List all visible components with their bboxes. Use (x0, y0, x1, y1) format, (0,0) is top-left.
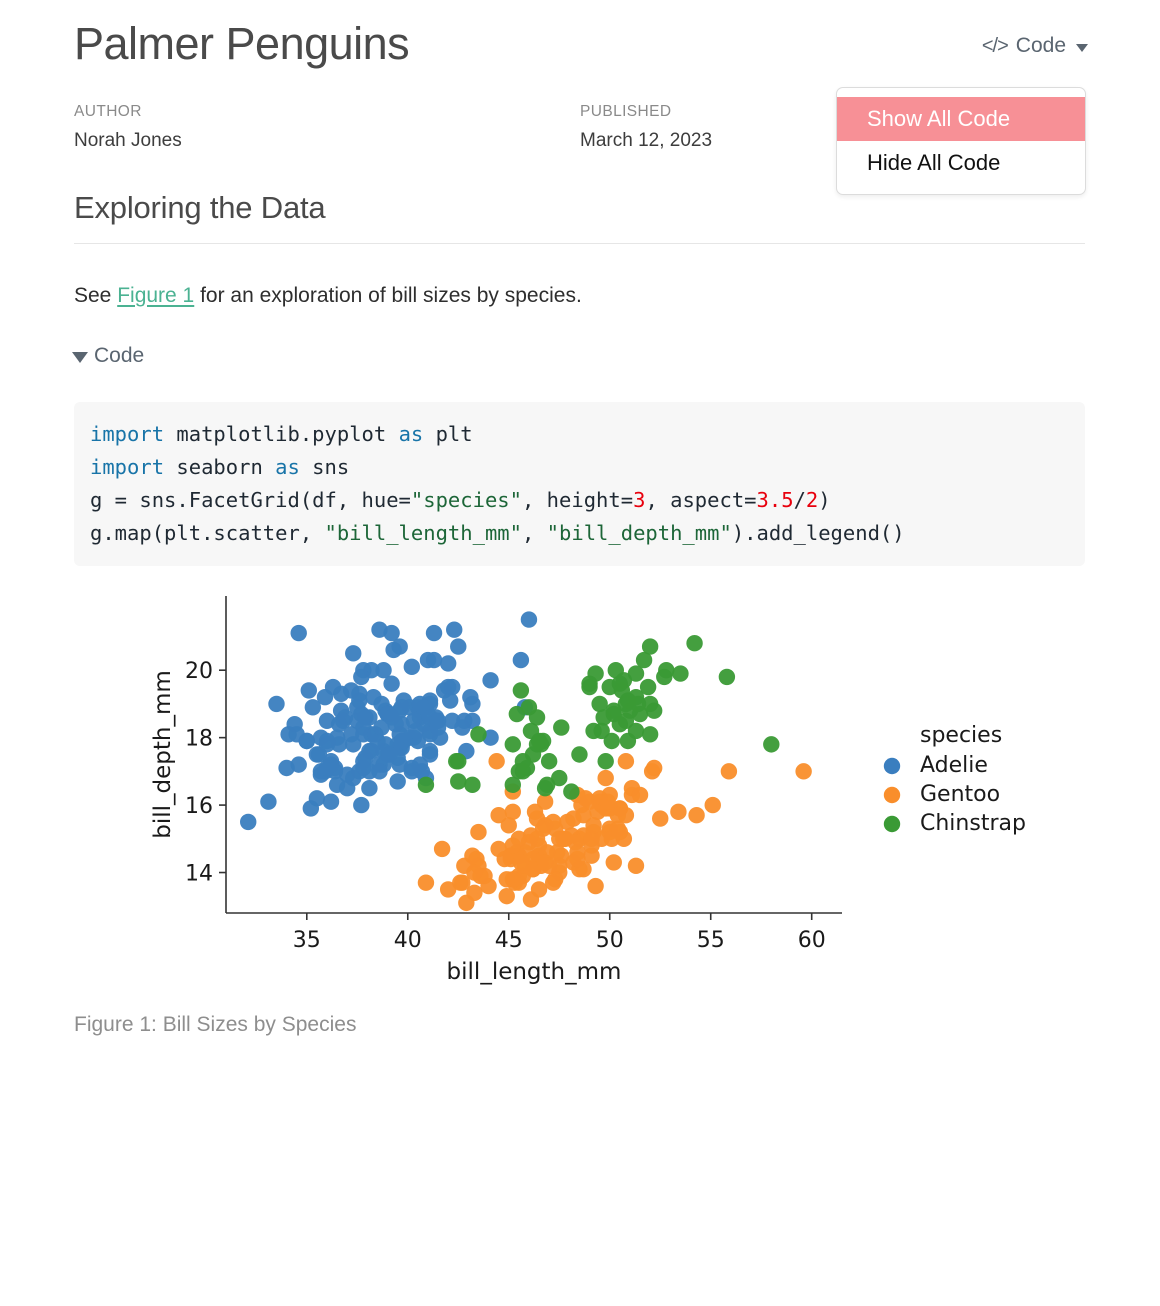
data-point (795, 763, 811, 779)
data-point (404, 659, 420, 675)
data-point (531, 881, 547, 897)
x-tick-label: 35 (293, 928, 321, 953)
data-point (593, 723, 609, 739)
data-point (389, 773, 405, 789)
data-point (418, 874, 434, 890)
data-point (513, 854, 529, 870)
data-point (670, 804, 686, 820)
paragraph-text-after: for an exploration of bill sizes by spec… (194, 284, 582, 307)
data-point (628, 858, 644, 874)
data-point (642, 726, 658, 742)
data-point (640, 679, 656, 695)
data-point (361, 780, 377, 796)
code-token: plt (423, 422, 472, 446)
legend-marker-adelie (884, 758, 900, 774)
data-point (600, 794, 616, 810)
data-point (616, 672, 632, 688)
data-point (343, 682, 359, 698)
x-axis-label: bill_length_mm (447, 959, 622, 985)
x-tick-label: 50 (596, 928, 624, 953)
data-point (303, 800, 319, 816)
data-point (587, 878, 603, 894)
legend-marker-gentoo (884, 787, 900, 803)
author-label: AUTHOR (74, 103, 182, 121)
code-dropdown-button[interactable]: </> Code (982, 34, 1088, 58)
data-point (563, 783, 579, 799)
legend-label-gentoo: Gentoo (920, 782, 1000, 807)
data-point (686, 635, 702, 651)
data-point (450, 638, 466, 654)
meta-published: PUBLISHED March 12, 2023 (580, 103, 712, 152)
data-point (499, 871, 515, 887)
data-point (606, 706, 622, 722)
data-point (454, 719, 470, 735)
data-point (260, 794, 276, 810)
data-point (571, 746, 587, 762)
data-point (418, 777, 434, 793)
code-button-label: Code (1016, 34, 1066, 58)
data-point (345, 770, 361, 786)
data-point (268, 696, 284, 712)
code-line: g = sns.FacetGrid(df, hue="species", hei… (74, 484, 1085, 517)
data-point (587, 665, 603, 681)
data-point (646, 702, 662, 718)
code-token: 3 (633, 488, 645, 512)
legend-marker-chinstrap (884, 816, 900, 832)
data-point (363, 743, 379, 759)
data-point (323, 794, 339, 810)
code-token: g.map(plt.scatter, (90, 521, 325, 545)
data-point (505, 777, 521, 793)
data-point (545, 814, 561, 830)
scatter-chart-svg: 14161820354045505560bill_length_mmbill_d… (74, 576, 1085, 996)
y-tick-label: 20 (185, 659, 213, 684)
data-point (387, 716, 403, 732)
data-point (345, 645, 361, 661)
data-point (541, 858, 557, 874)
code-lines: import matplotlib.pyplot as pltimport se… (74, 418, 1085, 550)
y-tick-label: 18 (185, 727, 213, 752)
data-point (426, 625, 442, 641)
data-point (365, 689, 381, 705)
data-point (559, 814, 575, 830)
section-heading: Exploring the Data (74, 190, 325, 226)
code-token: matplotlib.pyplot (164, 422, 399, 446)
data-point (652, 810, 668, 826)
data-point (434, 841, 450, 857)
code-line: g.map(plt.scatter, "bill_length_mm", "bi… (74, 517, 1085, 550)
code-token: , aspect= (645, 488, 756, 512)
data-point (325, 679, 341, 695)
data-point (721, 763, 737, 779)
data-point (569, 851, 585, 867)
data-point (412, 696, 428, 712)
data-point (763, 736, 779, 752)
data-point (301, 682, 317, 698)
code-token: "bill_length_mm" (325, 521, 522, 545)
data-point (470, 824, 486, 840)
data-point (319, 736, 335, 752)
x-tick-label: 40 (394, 928, 422, 953)
published-value: March 12, 2023 (580, 130, 712, 152)
data-point (240, 814, 256, 830)
code-token: g = sns.FacetGrid(df, hue= (90, 488, 411, 512)
code-token: , (522, 521, 547, 545)
data-point (430, 713, 446, 729)
code-token: / (794, 488, 806, 512)
code-line: import seaborn as sns (74, 451, 1085, 484)
data-point (529, 810, 545, 826)
data-point (642, 638, 658, 654)
document-page: Palmer Penguins AUTHOR Norah Jones PUBLI… (0, 0, 1160, 1306)
data-point (420, 652, 436, 668)
data-point (541, 753, 557, 769)
triangle-down-icon (72, 352, 88, 363)
x-tick-label: 45 (495, 928, 523, 953)
code-block[interactable]: import matplotlib.pyplot as pltimport se… (74, 402, 1085, 566)
menu-item-hide-all-code[interactable]: Hide All Code (837, 141, 1085, 185)
code-brackets-icon: </> (982, 35, 1008, 58)
y-tick-label: 14 (185, 862, 213, 887)
code-token: import (90, 455, 164, 479)
menu-item-show-all-code[interactable]: Show All Code (837, 97, 1085, 141)
data-point (612, 824, 628, 840)
code-disclosure-label: Code (94, 344, 144, 368)
data-point (331, 716, 347, 732)
data-point (291, 625, 307, 641)
figure-1-link[interactable]: Figure 1 (117, 284, 194, 307)
data-point (319, 760, 335, 776)
legend-label-chinstrap: Chinstrap (920, 811, 1026, 836)
data-point (513, 682, 529, 698)
code-token: seaborn (164, 455, 275, 479)
data-point (513, 652, 529, 668)
data-point (440, 655, 456, 671)
intro-paragraph: See Figure 1 for an exploration of bill … (74, 280, 582, 312)
y-axis-label: bill_depth_mm (150, 670, 176, 839)
x-tick-label: 55 (697, 928, 725, 953)
data-point (577, 790, 593, 806)
legend-label-adelie: Adelie (920, 753, 988, 778)
data-point (381, 746, 397, 762)
code-token: 2 (806, 488, 818, 512)
code-token: , height= (522, 488, 633, 512)
series-gentoo (418, 753, 812, 911)
data-point (505, 736, 521, 752)
data-point (537, 780, 553, 796)
data-point (299, 733, 315, 749)
data-point (583, 847, 599, 863)
heading-divider (74, 243, 1085, 244)
data-point (567, 834, 583, 850)
code-dropdown-menu: Show All Code Hide All Code (836, 87, 1086, 195)
data-point (553, 719, 569, 735)
data-point (658, 662, 674, 678)
data-point (499, 888, 515, 904)
data-point (450, 753, 466, 769)
data-point (618, 753, 634, 769)
data-point (632, 787, 648, 803)
code-token: "species" (411, 488, 522, 512)
data-point (705, 797, 721, 813)
published-label: PUBLISHED (580, 103, 712, 121)
data-point (391, 638, 407, 654)
meta-author: AUTHOR Norah Jones (74, 103, 182, 152)
series-adelie (240, 611, 537, 830)
data-point (585, 817, 601, 833)
data-point (470, 726, 486, 742)
data-point (450, 773, 466, 789)
data-point (446, 622, 462, 638)
data-point (458, 895, 474, 911)
y-tick-label: 16 (185, 794, 213, 819)
figure-scatter-plot: 14161820354045505560bill_length_mmbill_d… (74, 576, 1085, 996)
data-point (353, 669, 369, 685)
data-point (462, 689, 478, 705)
code-token: as (399, 422, 424, 446)
chevron-down-icon (1076, 44, 1088, 52)
data-point (488, 753, 504, 769)
data-point (646, 760, 662, 776)
data-point (719, 669, 735, 685)
data-point (620, 733, 636, 749)
code-line: import matplotlib.pyplot as plt (74, 418, 1085, 451)
code-token: sns (300, 455, 349, 479)
figure-caption: Figure 1: Bill Sizes by Species (74, 1013, 356, 1037)
data-point (466, 864, 482, 880)
data-point (482, 672, 498, 688)
code-token: ).add_legend() (732, 521, 905, 545)
data-point (371, 763, 387, 779)
code-token: ) (818, 488, 830, 512)
code-disclosure-toggle[interactable]: Code (72, 344, 144, 368)
paragraph-text-before: See (74, 284, 117, 307)
data-point (597, 770, 613, 786)
data-point (688, 807, 704, 823)
data-point (497, 851, 513, 867)
data-point (521, 834, 537, 850)
code-token: as (275, 455, 300, 479)
data-point (444, 679, 460, 695)
data-point (408, 723, 424, 739)
data-point (521, 611, 537, 627)
legend-title: species (920, 723, 1002, 748)
page-title: Palmer Penguins (74, 18, 409, 70)
data-point (373, 719, 389, 735)
data-point (353, 797, 369, 813)
code-token: 3.5 (757, 488, 794, 512)
x-tick-label: 60 (798, 928, 826, 953)
data-point (529, 709, 545, 725)
code-token: "bill_depth_mm" (547, 521, 732, 545)
data-point (672, 665, 688, 681)
author-value: Norah Jones (74, 130, 182, 152)
data-point (610, 807, 626, 823)
data-point (515, 763, 531, 779)
data-point (305, 699, 321, 715)
data-point (490, 807, 506, 823)
data-point (597, 753, 613, 769)
data-point (278, 760, 294, 776)
data-point (464, 777, 480, 793)
data-point (606, 854, 622, 870)
code-token: import (90, 422, 164, 446)
data-point (545, 874, 561, 890)
